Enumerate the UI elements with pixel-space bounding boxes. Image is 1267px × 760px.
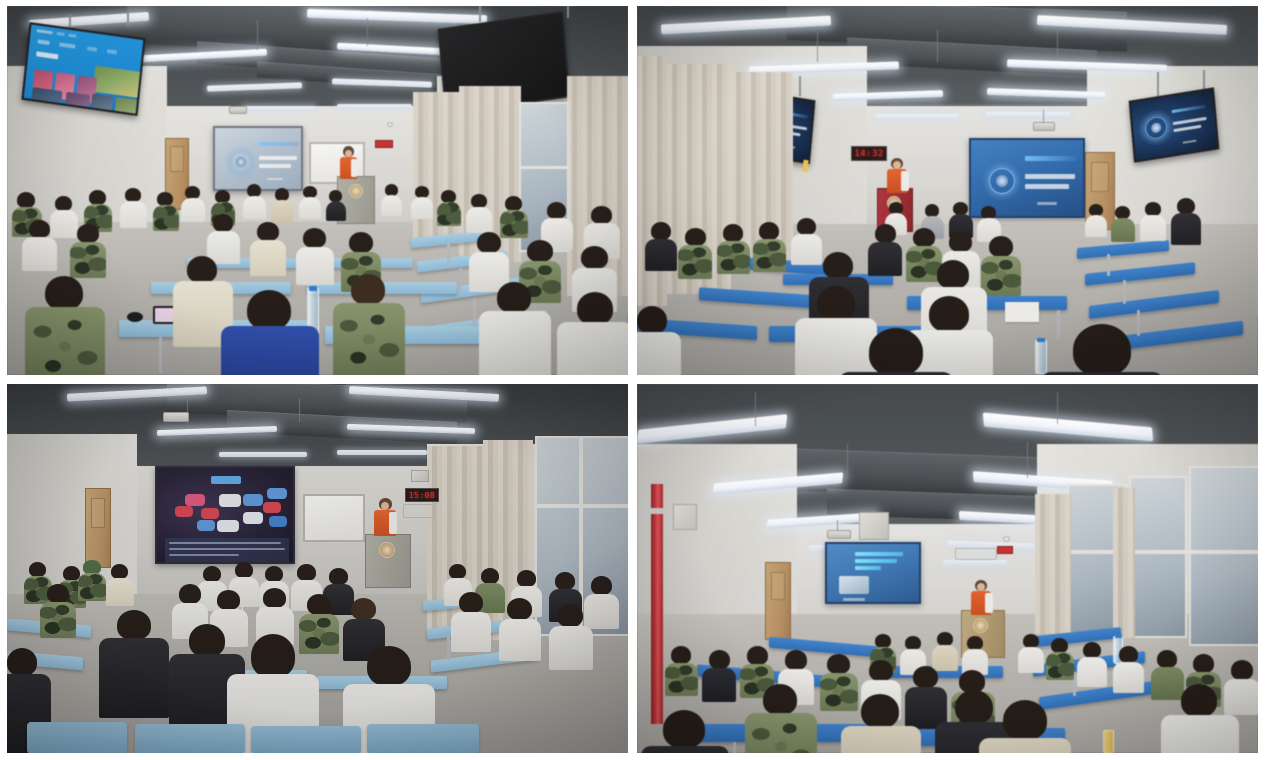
diagram-node bbox=[201, 508, 219, 519]
diagram-node bbox=[269, 516, 287, 527]
air-conditioner bbox=[955, 548, 997, 560]
chair-back bbox=[251, 726, 361, 753]
ceiling-projector bbox=[229, 106, 247, 114]
diagram-node bbox=[267, 488, 287, 499]
chair-back bbox=[27, 722, 127, 753]
slide-title-node bbox=[211, 476, 241, 484]
ceiling-projector bbox=[163, 412, 189, 422]
wall-mounted-tv-home-screen[interactable] bbox=[21, 22, 145, 116]
led-clock-display: 14:32 bbox=[851, 146, 887, 161]
chair-back bbox=[367, 724, 479, 753]
diagram-node bbox=[185, 494, 205, 506]
led-clock-text: 15:08 bbox=[409, 491, 436, 500]
window bbox=[1189, 466, 1258, 646]
notebook-on-desk bbox=[1005, 302, 1039, 322]
led-clock-text: 14:32 bbox=[854, 149, 884, 159]
presenter bbox=[371, 498, 401, 538]
diagram-node bbox=[217, 520, 239, 532]
horizontal-gutter bbox=[7, 375, 1258, 384]
smoke-detector-icon bbox=[387, 122, 393, 127]
projector-screen[interactable] bbox=[155, 466, 295, 564]
air-conditioner bbox=[403, 504, 435, 518]
diagram-node bbox=[243, 494, 263, 506]
photo-panel-top-left[interactable] bbox=[7, 6, 628, 375]
podium-emblem bbox=[349, 184, 363, 198]
wall-speaker bbox=[859, 512, 889, 540]
photo-panel-top-right[interactable]: 14:32 bbox=[637, 6, 1258, 375]
window bbox=[1129, 476, 1187, 638]
diagram-node bbox=[263, 502, 281, 513]
red-standpipe bbox=[651, 484, 663, 724]
water-bottle bbox=[1035, 340, 1047, 374]
presenter bbox=[337, 146, 363, 180]
ceiling-projector bbox=[827, 530, 851, 539]
photo-panel-bottom-right[interactable] bbox=[637, 384, 1258, 753]
chair-back bbox=[135, 724, 245, 753]
wall-speaker bbox=[673, 504, 697, 530]
presenter bbox=[969, 580, 997, 616]
podium-emblem bbox=[973, 618, 988, 633]
diagram-node bbox=[175, 506, 193, 517]
whiteboard bbox=[303, 494, 365, 542]
projector-screen[interactable] bbox=[825, 542, 921, 604]
smoke-detector-icon bbox=[1003, 536, 1010, 542]
diagram-node bbox=[219, 494, 241, 507]
projector-screen[interactable] bbox=[213, 126, 303, 191]
tv-tile bbox=[114, 97, 137, 116]
led-clock-display: 15:08 bbox=[405, 488, 439, 502]
diagram-node bbox=[243, 512, 263, 524]
podium-emblem bbox=[379, 542, 395, 558]
exit-sign bbox=[997, 546, 1013, 554]
presenter bbox=[885, 158, 913, 192]
wall-speaker bbox=[411, 470, 429, 482]
diagram-node bbox=[197, 520, 215, 531]
photo-panel-bottom-left[interactable]: 15:08 bbox=[7, 384, 628, 753]
ceiling-projector bbox=[1033, 122, 1055, 131]
photo-collage: 14:32 bbox=[0, 0, 1267, 760]
exit-sign bbox=[375, 140, 393, 148]
water-bottle bbox=[1103, 730, 1114, 753]
